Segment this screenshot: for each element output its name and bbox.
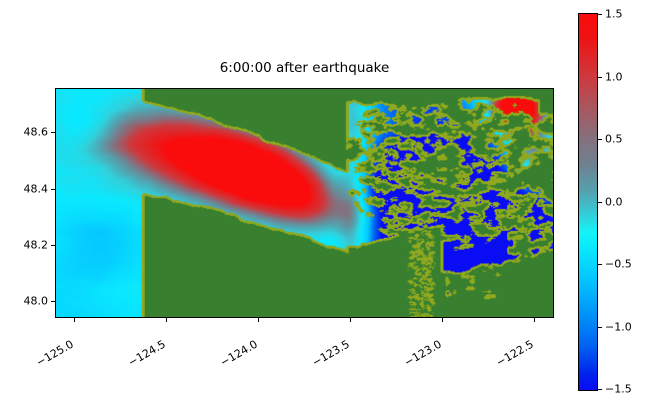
xtick-label-3: −123.5 bbox=[310, 328, 368, 369]
xtick-mark-3 bbox=[350, 318, 351, 322]
colorbar-label-4: 0.5 bbox=[605, 133, 623, 146]
page-title: 6:00:00 after earthquake bbox=[55, 60, 554, 76]
xtick-mark-1 bbox=[166, 318, 167, 322]
colorbar-tick-6 bbox=[598, 14, 602, 15]
map-axes[interactable] bbox=[55, 88, 554, 318]
xtick-label-1: −124.5 bbox=[126, 328, 184, 369]
xtick-label-0: −125.0 bbox=[34, 328, 92, 369]
colorbar-label-0: −1.5 bbox=[605, 383, 632, 396]
ytick-mark-0 bbox=[51, 301, 55, 302]
colorbar-tick-3 bbox=[598, 202, 602, 203]
colorbar-label-5: 1.0 bbox=[605, 71, 623, 84]
ytick-label-1: 48.2 bbox=[8, 239, 48, 252]
colorbar-tick-1 bbox=[598, 327, 602, 328]
ytick-label-2: 48.4 bbox=[8, 183, 48, 196]
colorbar-gradient bbox=[578, 13, 598, 391]
ytick-label-0: 48.0 bbox=[8, 295, 48, 308]
xtick-mark-4 bbox=[442, 318, 443, 322]
xtick-label-4: −123.0 bbox=[402, 328, 460, 369]
ytick-mark-1 bbox=[51, 245, 55, 246]
colorbar-tick-0 bbox=[598, 389, 602, 390]
ytick-label-3: 48.6 bbox=[8, 126, 48, 139]
colorbar[interactable]: 1.5 1.0 0.5 0.0 −0.5 −1.0 −1.5 bbox=[578, 13, 598, 391]
colorbar-tick-5 bbox=[598, 77, 602, 78]
colorbar-label-2: −0.5 bbox=[605, 258, 632, 271]
colorbar-label-6: 1.5 bbox=[605, 8, 623, 21]
xtick-mark-0 bbox=[74, 318, 75, 322]
tsunami-heatmap-image bbox=[56, 89, 553, 317]
xtick-label-2: −124.0 bbox=[218, 328, 276, 369]
colorbar-label-1: −1.0 bbox=[605, 321, 632, 334]
xtick-label-5: −122.5 bbox=[494, 328, 552, 369]
xtick-mark-5 bbox=[534, 318, 535, 322]
ytick-mark-2 bbox=[51, 189, 55, 190]
figure-canvas: 6:00:00 after earthquake −125.0 −124.5 −… bbox=[0, 0, 649, 411]
xtick-mark-2 bbox=[258, 318, 259, 322]
colorbar-tick-4 bbox=[598, 139, 602, 140]
colorbar-tick-2 bbox=[598, 264, 602, 265]
ytick-mark-3 bbox=[51, 132, 55, 133]
colorbar-label-3: 0.0 bbox=[605, 196, 623, 209]
